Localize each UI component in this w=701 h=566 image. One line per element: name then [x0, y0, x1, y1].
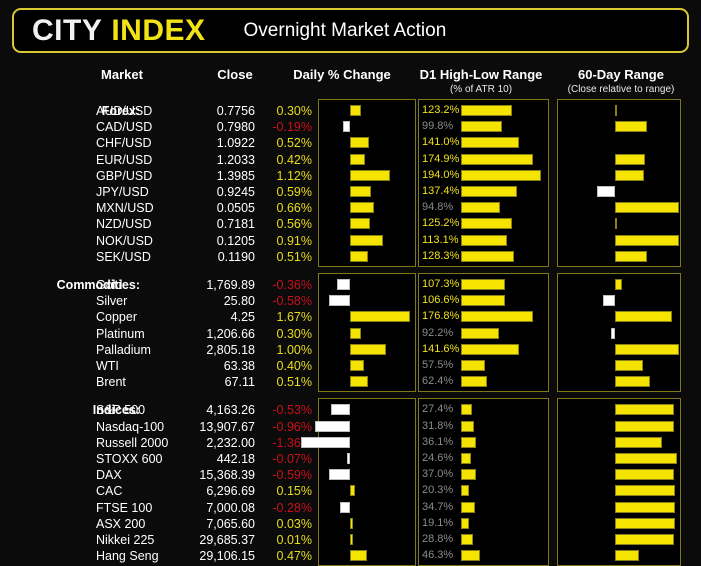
close-value: 1.3985: [150, 169, 255, 183]
atr-percent-label: 34.7%: [422, 501, 464, 513]
close-value: 1.2033: [150, 153, 255, 167]
atr-percent-label: 36.1%: [422, 436, 464, 448]
close-value: 1,206.66: [150, 327, 255, 341]
atr-range-bar: [461, 251, 514, 262]
column-header-daily-change: Daily % Change: [272, 67, 412, 82]
atr-percent-label: 107.3%: [422, 278, 464, 290]
atr-range-bar: [461, 235, 507, 246]
column-subheader-60-day-range: (Close relative to range): [551, 84, 691, 95]
sixty-day-range-bar: [615, 502, 675, 513]
column-header-d1-range: D1 High-Low Range: [411, 67, 551, 82]
close-value: 1.0922: [150, 136, 255, 150]
atr-percent-label: 99.8%: [422, 120, 464, 132]
daily-change-bar: [350, 235, 383, 246]
daily-change-bar: [350, 534, 353, 545]
atr-range-bar: [461, 121, 502, 132]
atr-percent-label: 92.2%: [422, 327, 464, 339]
sixty-day-range-bar: [615, 376, 650, 387]
daily-change-bar: [350, 328, 361, 339]
daily-change-value: -0.19%: [258, 120, 312, 134]
daily-change-value: 0.91%: [258, 234, 312, 248]
daily-change-value: -0.58%: [258, 294, 312, 308]
daily-change-value: -0.53%: [258, 403, 312, 417]
close-value: 442.18: [150, 452, 255, 466]
atr-percent-label: 31.8%: [422, 420, 464, 432]
atr-percent-label: 125.2%: [422, 217, 464, 229]
daily-change-value: 1.67%: [258, 310, 312, 324]
daily-change-bar: [350, 202, 374, 213]
daily-change-value: 1.00%: [258, 343, 312, 357]
sixty-day-range-bar: [615, 453, 677, 464]
atr-percent-label: 174.9%: [422, 153, 464, 165]
atr-percent-label: 37.0%: [422, 468, 464, 480]
daily-change-bar: [350, 170, 390, 181]
daily-change-bar: [350, 137, 369, 148]
atr-range-bar: [461, 328, 499, 339]
sixty-day-range-bar: [615, 485, 675, 496]
daily-change-bar: [350, 186, 371, 197]
daily-change-value: 0.40%: [258, 359, 312, 373]
daily-change-value: 0.03%: [258, 517, 312, 531]
daily-change-value: -0.07%: [258, 452, 312, 466]
close-value: 15,368.39: [150, 468, 255, 482]
atr-range-bar: [461, 437, 476, 448]
daily-change-bar: [350, 105, 361, 116]
daily-change-value: 0.66%: [258, 201, 312, 215]
close-value: 4.25: [150, 310, 255, 324]
daily-change-panel-1: [318, 273, 416, 392]
sixty-day-range-bar: [615, 170, 644, 181]
atr-range-bar: [461, 421, 474, 432]
sixty-day-range-bar: [615, 105, 617, 116]
daily-change-value: 0.15%: [258, 484, 312, 498]
atr-percent-label: 113.1%: [422, 234, 464, 246]
daily-change-value: 0.47%: [258, 549, 312, 563]
sixty-day-range-bar: [615, 311, 672, 322]
daily-change-value: 0.30%: [258, 327, 312, 341]
daily-change-bar: [350, 518, 353, 529]
atr-range-bar: [461, 186, 517, 197]
daily-change-bar: [331, 404, 350, 415]
daily-change-bar: [340, 502, 350, 513]
sixty-day-range-bar: [615, 360, 643, 371]
atr-range-bar: [461, 534, 473, 545]
market-dashboard: CITYINDEX Overnight Market Action Market…: [0, 0, 701, 566]
atr-percent-label: 57.5%: [422, 359, 464, 371]
daily-change-bar: [315, 421, 350, 432]
daily-change-value: -0.28%: [258, 501, 312, 515]
column-header-market: Market: [62, 67, 182, 82]
close-value: 63.38: [150, 359, 255, 373]
atr-range-bar: [461, 376, 487, 387]
sixty-day-range-bar: [615, 218, 617, 229]
daily-change-value: 0.01%: [258, 533, 312, 547]
daily-change-bar: [350, 344, 386, 355]
daily-change-value: -0.36%: [258, 278, 312, 292]
atr-percent-label: 176.8%: [422, 310, 464, 322]
daily-change-value: 0.59%: [258, 185, 312, 199]
brand-index: INDEX: [111, 14, 205, 47]
daily-change-bar: [350, 311, 410, 322]
close-value: 25.80: [150, 294, 255, 308]
atr-percent-label: 128.3%: [422, 250, 464, 262]
sixty-day-range-bar: [597, 186, 615, 197]
atr-percent-label: 27.4%: [422, 403, 464, 415]
daily-change-bar: [337, 279, 350, 290]
sixty-day-range-bar: [615, 437, 662, 448]
atr-percent-label: 194.0%: [422, 169, 464, 181]
atr-range-bar: [461, 404, 472, 415]
daily-change-value: -0.96%: [258, 420, 312, 434]
close-value: 13,907.67: [150, 420, 255, 434]
atr-percent-label: 94.8%: [422, 201, 464, 213]
close-value: 1,769.89: [150, 278, 255, 292]
atr-percent-label: 28.8%: [422, 533, 464, 545]
close-value: 7,065.60: [150, 517, 255, 531]
daily-change-bar: [350, 550, 367, 561]
atr-percent-label: 62.4%: [422, 375, 464, 387]
close-value: 2,805.18: [150, 343, 255, 357]
close-value: 0.0505: [150, 201, 255, 215]
close-value: 67.11: [150, 375, 255, 389]
daily-change-bar: [350, 154, 365, 165]
atr-range-bar: [461, 502, 475, 513]
sixty-day-range-bar: [615, 154, 645, 165]
brand-city: CITY: [32, 14, 102, 47]
atr-range-bar: [461, 105, 512, 116]
column-subheader-d1-range: (% of ATR 10): [411, 84, 551, 95]
atr-percent-label: 106.6%: [422, 294, 464, 306]
sixty-day-range-bar: [615, 251, 647, 262]
close-value: 0.7756: [150, 104, 255, 118]
daily-change-bar: [350, 485, 355, 496]
close-value: 0.7980: [150, 120, 255, 134]
sixty-day-range-bar: [611, 328, 615, 339]
daily-change-value: 0.30%: [258, 104, 312, 118]
close-value: 0.1190: [150, 250, 255, 264]
close-value: 0.1205: [150, 234, 255, 248]
close-value: 29,106.15: [150, 549, 255, 563]
atr-range-bar: [461, 360, 485, 371]
atr-range-bar: [461, 202, 500, 213]
atr-range-bar: [461, 295, 505, 306]
atr-percent-label: 46.3%: [422, 549, 464, 561]
sixty-day-range-bar: [615, 279, 622, 290]
atr-percent-label: 19.1%: [422, 517, 464, 529]
sixty-day-range-bar: [615, 550, 639, 561]
atr-range-bar: [461, 469, 476, 480]
daily-change-bar: [301, 437, 350, 448]
brand-logo: CITYINDEX: [32, 14, 206, 48]
atr-percent-label: 24.6%: [422, 452, 464, 464]
daily-change-value: 0.51%: [258, 250, 312, 264]
close-value: 0.7181: [150, 217, 255, 231]
daily-change-bar: [350, 251, 368, 262]
daily-change-bar: [329, 295, 350, 306]
close-value: 7,000.08: [150, 501, 255, 515]
sixty-day-range-bar: [615, 518, 675, 529]
close-value: 2,232.00: [150, 436, 255, 450]
daily-change-value: 0.56%: [258, 217, 312, 231]
atr-percent-label: 141.0%: [422, 136, 464, 148]
sixty-day-range-bar: [615, 404, 674, 415]
atr-range-bar: [461, 344, 519, 355]
close-value: 4,163.26: [150, 403, 255, 417]
daily-change-value: 0.51%: [258, 375, 312, 389]
daily-change-value: 0.42%: [258, 153, 312, 167]
atr-range-bar: [461, 218, 512, 229]
daily-change-bar: [347, 453, 350, 464]
daily-change-bar: [329, 469, 350, 480]
atr-percent-label: 137.4%: [422, 185, 464, 197]
daily-change-value: 0.52%: [258, 136, 312, 150]
atr-range-bar: [461, 485, 469, 496]
sixty-day-range-bar: [615, 469, 674, 480]
atr-range-bar: [461, 453, 471, 464]
sixty-day-range-panel-1: [557, 273, 681, 392]
atr-percent-label: 123.2%: [422, 104, 464, 116]
close-value: 29,685.37: [150, 533, 255, 547]
title-bar: CITYINDEX Overnight Market Action: [12, 8, 689, 53]
sixty-day-range-bar: [615, 235, 679, 246]
sixty-day-range-bar: [615, 344, 679, 355]
column-header-close: Close: [190, 67, 280, 82]
sixty-day-range-bar: [615, 534, 674, 545]
daily-change-bar: [350, 360, 364, 371]
atr-range-bar: [461, 518, 469, 529]
column-header-60-day-range: 60-Day Range: [551, 67, 691, 82]
sixty-day-range-bar: [615, 202, 679, 213]
daily-change-bar: [350, 218, 370, 229]
atr-percent-label: 20.3%: [422, 484, 464, 496]
close-value: 0.9245: [150, 185, 255, 199]
daily-change-value: -0.59%: [258, 468, 312, 482]
atr-range-bar: [461, 137, 519, 148]
sixty-day-range-bar: [615, 121, 647, 132]
atr-range-bar: [461, 311, 533, 322]
atr-percent-label: 141.6%: [422, 343, 464, 355]
daily-change-bar: [343, 121, 350, 132]
atr-range-bar: [461, 550, 480, 561]
daily-change-value: 1.12%: [258, 169, 312, 183]
atr-range-bar: [461, 170, 541, 181]
close-value: 6,296.69: [150, 484, 255, 498]
sixty-day-range-bar: [603, 295, 615, 306]
daily-change-bar: [350, 376, 368, 387]
page-title: Overnight Market Action: [244, 20, 447, 42]
atr-range-bar: [461, 279, 505, 290]
sixty-day-range-bar: [615, 421, 674, 432]
atr-range-bar: [461, 154, 533, 165]
